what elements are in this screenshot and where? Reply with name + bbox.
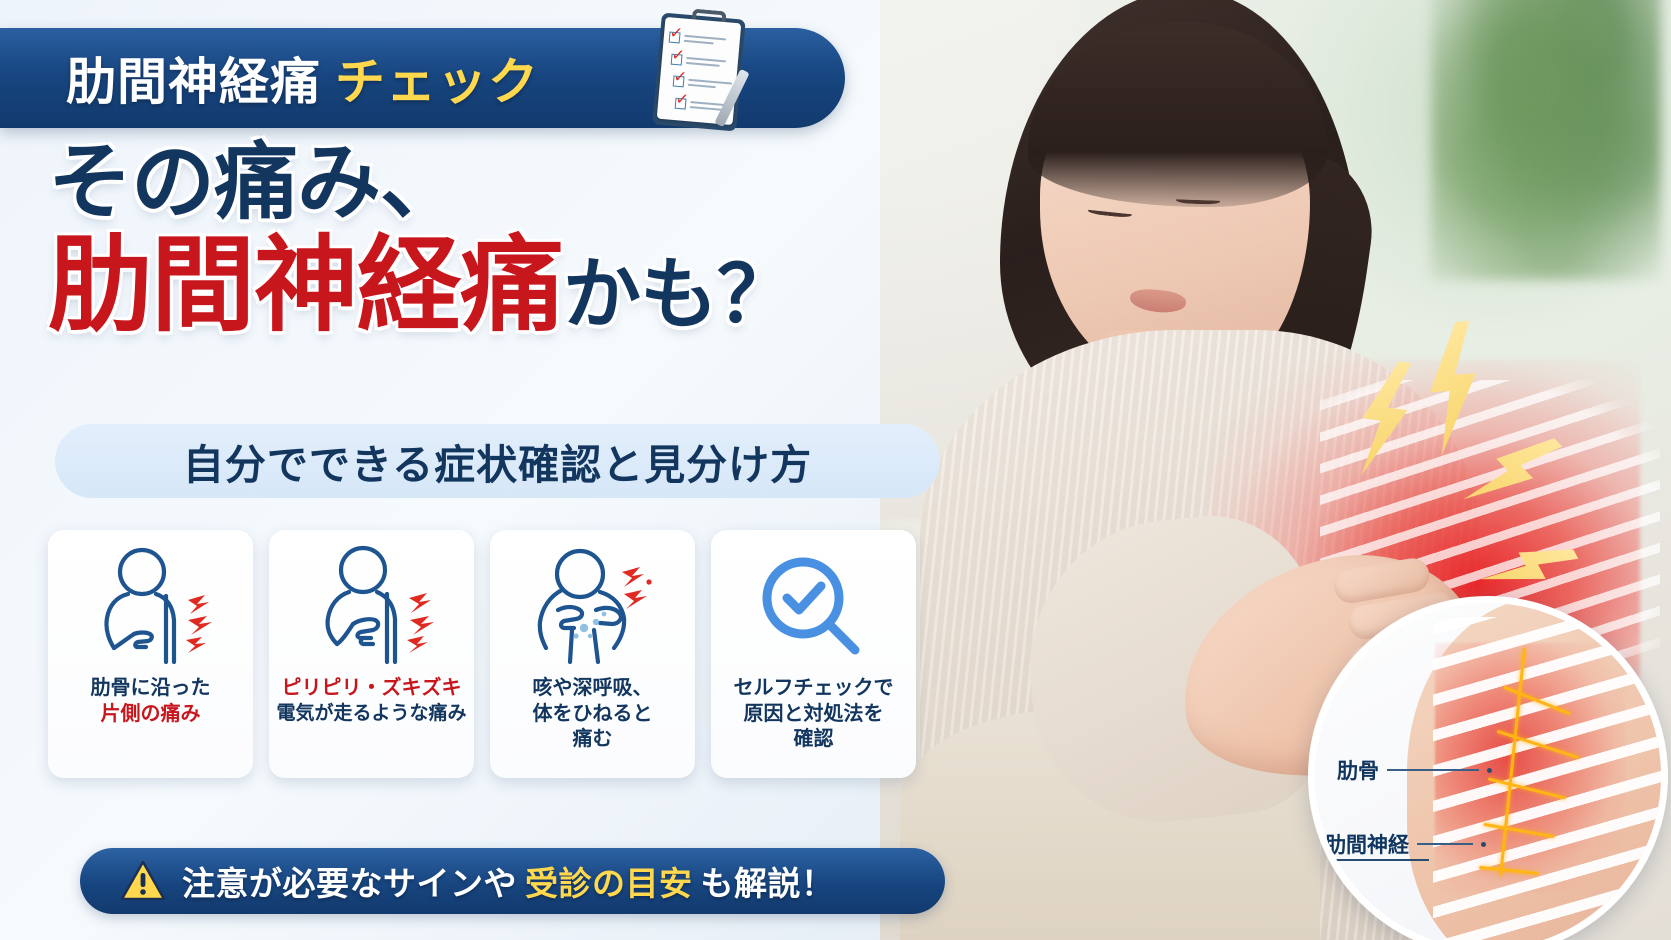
text-line: [684, 40, 714, 45]
headline-line2-red: 肋間神経痛: [48, 228, 563, 344]
feature-card-line3: 痛む: [533, 727, 653, 753]
bottom-banner: 注意が必要なサインや受診の目安も解説！: [80, 848, 945, 914]
text-line: [688, 84, 716, 88]
anatomy-label-nerve-text: 肋間神経: [1325, 829, 1409, 859]
check-icon: ✓: [673, 69, 688, 86]
person-chest-pain-icon: [297, 544, 447, 672]
feature-card-text: ピリピリ・ズキズキ 電気が走るような痛み: [270, 676, 472, 726]
person-coughing-icon: [518, 544, 668, 672]
person-holding-side-icon: [76, 544, 226, 672]
checkbox-icon: ✓: [673, 75, 685, 87]
feature-card-text: セルフチェックで 原因と対処法を 確認: [728, 676, 900, 753]
leader-line: [1417, 843, 1473, 845]
bottom-banner-text-accent: 受診の目安: [525, 865, 693, 902]
check-icon: ✓: [669, 26, 684, 43]
feature-card-line2: 原因と対処法を: [734, 702, 894, 728]
text-line: [690, 106, 722, 111]
leader-dot: [1487, 768, 1492, 773]
feature-card-line2: 片側の痛み: [91, 702, 211, 728]
anatomy-label-rib-text: 肋骨: [1337, 755, 1379, 785]
feature-card-line1: ピリピリ・ズキズキ: [276, 676, 466, 702]
feature-card-line2: 体をひねると: [533, 702, 653, 728]
anatomy-label-rib: 肋骨: [1337, 755, 1492, 785]
ribbon-title-accent: チェック: [335, 54, 539, 110]
feature-card-list: 肋骨に沿った 片側の痛み: [48, 530, 916, 778]
warning-triangle-icon: [120, 860, 166, 902]
checkbox-icon: ✓: [669, 32, 681, 44]
leader-dot: [1481, 842, 1486, 847]
ribbon-title-main: 肋間神経痛: [66, 54, 321, 110]
feature-card-line1: 咳や深呼吸、: [533, 676, 653, 702]
feature-card-line3: 確認: [734, 727, 894, 753]
anatomy-inset: 肋骨 肋間神経: [1308, 596, 1668, 940]
headline-line2-tail: かも？: [563, 250, 794, 338]
feature-card[interactable]: 咳や深呼吸、 体をひねると 痛む: [490, 530, 695, 778]
check-icon: ✓: [671, 48, 686, 65]
leader-line: [1387, 769, 1479, 771]
plant-decoration: [1431, 0, 1661, 280]
feature-card-text: 咳や深呼吸、 体をひねると 痛む: [527, 676, 659, 753]
banner-root: 肋骨 肋間神経 肋間神経痛チェック ✓ ✓: [0, 0, 1671, 940]
feature-card[interactable]: セルフチェックで 原因と対処法を 確認: [711, 530, 916, 778]
ribbon-title: 肋間神経痛チェック: [66, 42, 539, 114]
headline-line2: 肋間神経痛かも？: [48, 234, 948, 338]
bottom-banner-text: 注意が必要なサインや受診の目安も解説！: [182, 857, 835, 905]
checklist-lines: [688, 79, 732, 90]
subtitle-text: 自分でできる症状確認と見分け方: [183, 431, 812, 491]
magnifier-check-icon: [739, 544, 889, 672]
headline-line1: その痛み、: [48, 140, 948, 226]
check-icon: ✓: [675, 92, 690, 109]
text-line: [686, 62, 720, 67]
checklist-lines: [686, 57, 726, 67]
feature-card-line2: 電気が走るような痛み: [276, 702, 466, 726]
feature-card-line1: 肋骨に沿った: [91, 676, 211, 702]
feature-card[interactable]: ピリピリ・ズキズキ 電気が走るような痛み: [269, 530, 474, 778]
checkbox-icon: ✓: [671, 54, 683, 66]
checklist-lines: [684, 35, 726, 46]
checkbox-icon: ✓: [675, 98, 687, 110]
anatomy-label-nerve: 肋間神経: [1325, 829, 1486, 859]
label-underline: [1325, 859, 1429, 861]
bottom-banner-text-before: 注意が必要なサインや: [182, 865, 517, 902]
feature-card-text: 肋骨に沿った 片側の痛み: [85, 676, 217, 727]
headline-block: その痛み、 肋間神経痛かも？: [48, 140, 948, 338]
feature-card-line1: セルフチェックで: [734, 676, 894, 702]
bottom-banner-text-after: も解説！: [701, 865, 835, 902]
subtitle-pill: 自分でできる症状確認と見分け方: [55, 424, 940, 498]
feature-card[interactable]: 肋骨に沿った 片側の痛み: [48, 530, 253, 778]
clipboard-checklist-icon: ✓ ✓ ✓ ✓: [645, 2, 753, 134]
